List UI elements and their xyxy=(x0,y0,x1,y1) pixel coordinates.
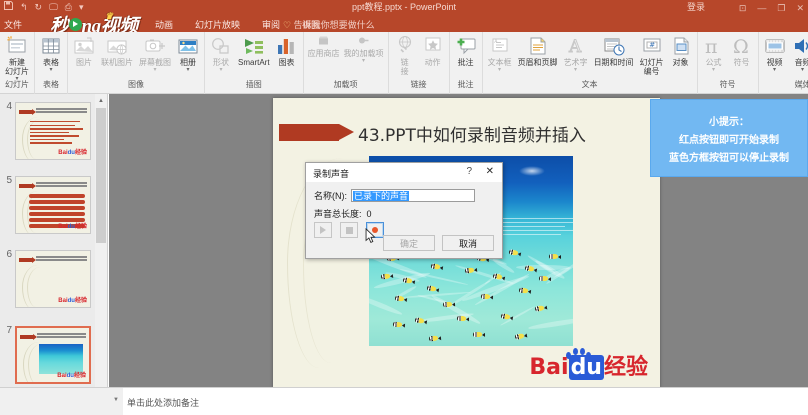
my-addins-label: 我的加载项 xyxy=(344,49,384,58)
thumbnail-item[interactable]: 7 Baidu经验 xyxy=(2,326,91,384)
thumbnail-photo xyxy=(39,344,83,374)
fish xyxy=(519,287,529,293)
mouse-cursor xyxy=(365,228,376,244)
smartart-label: SmartArt xyxy=(238,58,270,67)
crown-icon: ♛ xyxy=(105,11,113,22)
store-icon xyxy=(318,35,329,46)
wordart-icon: A xyxy=(565,35,587,57)
sound-name-value: 已录下的声音 xyxy=(353,191,409,201)
wordart-button: A艺术字▾ xyxy=(561,34,591,74)
decor-swirl-2 xyxy=(27,267,49,307)
shapes-button: 形状▾ xyxy=(207,34,235,74)
ribbon-dialog-launcher[interactable]: ⌐ xyxy=(801,85,805,92)
baidu-watermark: Baidu经验 xyxy=(529,356,648,380)
ribbon-group-items: π公式▾Ω符号 xyxy=(700,32,756,78)
title-arrow-decoration xyxy=(19,184,32,188)
name-label: 名称(N): xyxy=(314,189,347,202)
fish xyxy=(509,249,519,256)
thumbnail-title-lines xyxy=(36,108,87,115)
comment-button[interactable]: 批注 xyxy=(452,34,480,68)
chevron-down-icon[interactable]: ▾ xyxy=(219,67,222,73)
ribbon-group-label: 图像 xyxy=(70,78,202,92)
smartart-icon xyxy=(243,35,265,57)
fish xyxy=(535,305,545,312)
comment-icon xyxy=(455,35,477,57)
ribbon-groups: 新建幻灯片▾幻灯片表格▾表格图片联机图片屏幕截图▾相册▾图像形状▾SmartAr… xyxy=(0,32,808,94)
shapes-icon xyxy=(210,35,232,57)
my-addins-button: 我的加载项▾ xyxy=(342,34,386,65)
ribbon-group-label: 文本 xyxy=(485,78,695,92)
fish xyxy=(393,322,402,328)
wordart-label: 艺术字 xyxy=(564,58,588,67)
ribbon-group-items: 图片联机图片屏幕截图▾相册▾ xyxy=(70,32,202,78)
menu-item-file[interactable]: 文件 xyxy=(4,18,22,31)
text-box-button: A文本框▾ xyxy=(485,34,515,74)
fish xyxy=(381,273,391,279)
ribbon-group-items: A文本框▾页眉和页脚A艺术字▾日期和时间#幻灯片编号对象 xyxy=(485,32,695,78)
ribbon-group-图像: 图片联机图片屏幕截图▾相册▾图像 xyxy=(68,32,205,94)
ribbon-group-表格: 表格▾表格 xyxy=(35,32,68,94)
thumbnail-slide[interactable]: Baidu经验 xyxy=(15,326,91,384)
thumbnail-slide[interactable]: Baidu经验 xyxy=(15,176,91,234)
fish xyxy=(457,316,466,321)
ribbon-group-加载项: 应用商店我的加载项▾加载项 xyxy=(304,32,389,94)
thumbnail-number: 7 xyxy=(2,326,15,336)
ok-button[interactable]: 确定 xyxy=(383,235,435,251)
table-button[interactable]: 表格▾ xyxy=(37,34,65,74)
fish xyxy=(473,332,482,337)
action-label: 动作 xyxy=(425,58,441,67)
chevron-down-icon[interactable]: ▾ xyxy=(153,67,156,73)
audio-button[interactable]: 音频▾ xyxy=(789,34,808,74)
fish xyxy=(549,254,558,259)
screenshot-label: 屏幕截图 xyxy=(139,58,171,67)
chart-icon xyxy=(276,35,298,57)
photo-album-button[interactable]: 相册▾ xyxy=(174,34,202,74)
slide-number-button[interactable]: #幻灯片编号 xyxy=(637,34,667,77)
baidu-du: du xyxy=(569,355,604,380)
comment-label: 批注 xyxy=(458,58,474,67)
ribbon-group-label: 批注 xyxy=(452,78,480,92)
table-icon xyxy=(40,35,62,57)
fish xyxy=(501,313,511,320)
fish xyxy=(415,317,425,324)
title-arrow-decoration xyxy=(19,258,32,262)
object-label: 对象 xyxy=(673,58,689,67)
slide-number-label: 幻灯片 xyxy=(640,58,664,67)
slide-thumbnail-panel[interactable]: 4 Baidu经验5 Baidu经验6 Baidu经验7 Baidu经验 ▲ ▼ xyxy=(0,94,108,415)
paw-dot xyxy=(580,348,585,355)
sound-name-input[interactable]: 已录下的声音 xyxy=(351,189,475,202)
fish xyxy=(539,276,548,281)
date-time-label: 日期和时间 xyxy=(594,58,634,67)
text-box-icon: A xyxy=(489,35,511,57)
length-row: 声音总长度: 0 xyxy=(314,207,372,220)
fish xyxy=(429,336,438,342)
ribbon-group-label: 插图 xyxy=(207,78,301,92)
fish xyxy=(403,277,413,283)
baidu-bai: Bai xyxy=(529,355,568,380)
paw-dot xyxy=(573,348,578,355)
thumbnail-slide[interactable]: Baidu经验 xyxy=(15,250,91,308)
thumbnail-item[interactable]: 5 Baidu经验 xyxy=(2,176,91,234)
hyperlink-button: 链接 xyxy=(391,34,419,77)
equation-button: π公式▾ xyxy=(700,34,728,74)
dialog-title: 录制声音 xyxy=(313,167,349,180)
notes-pane[interactable]: ▼ 单击此处添加备注 xyxy=(109,387,808,415)
photo-album-icon xyxy=(177,35,199,57)
powerpoint-window: ↰ ↻ 🖵 ⎙ ▾ ppt教程.pptx - PowerPoint 登录 ⊡ —… xyxy=(0,0,808,415)
tab-animations[interactable]: 动画 xyxy=(155,18,173,31)
video-icon xyxy=(764,35,786,57)
dialog-close-icon[interactable]: ✕ xyxy=(486,166,494,177)
length-label: 声音总长度: xyxy=(314,207,362,220)
title-arrow-decoration xyxy=(279,124,339,141)
thumbnail-number: 6 xyxy=(2,250,15,260)
date-time-icon xyxy=(603,35,625,57)
chevron-down-icon[interactable]: ▾ xyxy=(574,67,577,73)
symbol-icon: Ω xyxy=(731,35,753,57)
slide-title[interactable]: 43.PPT中如何录制音频并插入 xyxy=(358,121,586,146)
ribbon-group-items: 批注 xyxy=(452,32,480,78)
sign-in-link[interactable]: 登录 xyxy=(687,1,705,14)
chevron-down-icon[interactable]: ▾ xyxy=(186,67,189,73)
equation-label: 公式 xyxy=(706,58,722,67)
tip-callout-box: 小提示： 红点按钮即可开始录制 蓝色方框按钮可以停止录制 xyxy=(650,99,808,177)
thumbnail-title-lines xyxy=(36,256,87,263)
play-badge-icon xyxy=(69,18,82,31)
ribbon-group-items: 新建幻灯片▾ xyxy=(2,32,32,78)
online-picture-icon xyxy=(106,35,128,57)
shapes-label: 形状 xyxy=(213,58,229,67)
screenshot-icon xyxy=(144,35,166,57)
svg-text:A: A xyxy=(568,37,582,57)
chevron-down-icon[interactable]: ▾ xyxy=(712,67,715,73)
new-slide-icon xyxy=(6,35,28,57)
hyperlink-label-2: 接 xyxy=(401,67,409,76)
title-arrow-decoration xyxy=(19,110,32,114)
thumbnail-baidu-watermark: Baidu经验 xyxy=(58,150,87,157)
addins-icon xyxy=(358,35,369,46)
ribbon-group-链接: 链接动作链接 xyxy=(389,32,450,94)
tip-heading: 小提示： xyxy=(709,113,749,128)
thumbnail-baidu-watermark: Baidu经验 xyxy=(58,298,87,305)
action-icon xyxy=(422,35,444,57)
minimize-icon[interactable]: — xyxy=(757,0,766,16)
play-icon xyxy=(320,226,326,234)
dialog-title-bar[interactable]: 录制声音 ? ✕ xyxy=(306,163,502,183)
tell-me-label: 告诉我你想要做什么 xyxy=(294,20,375,30)
date-time-button[interactable]: 日期和时间 xyxy=(591,34,637,68)
tip-line-2: 蓝色方框按钮可以停止录制 xyxy=(669,149,789,164)
chevron-down-icon[interactable]: ▾ xyxy=(801,67,804,73)
chevron-down-icon[interactable]: ▾ xyxy=(362,58,365,64)
ribbon-display-options-icon[interactable]: ⊡ xyxy=(739,0,747,16)
header-footer-label: 页眉和页脚 xyxy=(518,58,558,67)
picture-icon xyxy=(73,35,95,57)
new-slide-label-2: 幻灯片 xyxy=(5,67,29,76)
title-arrow-decoration xyxy=(20,335,33,339)
store-label: 应用商店 xyxy=(308,49,340,58)
ribbon-group-label: 加载项 xyxy=(306,78,386,92)
action-button: 动作 xyxy=(419,34,447,68)
thumbnail-title-lines xyxy=(37,333,86,340)
thumbnail-baidu-watermark: Baidu经验 xyxy=(57,373,86,380)
bottom-left-filler xyxy=(0,387,109,415)
picture-label: 图片 xyxy=(76,58,92,67)
picture-button: 图片 xyxy=(70,34,98,68)
ribbon-group-items: 表格▾ xyxy=(37,32,65,78)
sun-glow xyxy=(519,166,545,176)
window-controls: ⊡ — ❐ ✕ xyxy=(739,0,804,16)
video-button[interactable]: 视频▾ xyxy=(761,34,789,74)
tell-me-search[interactable]: ♡ 告诉我你想要做什么 xyxy=(283,18,375,31)
scrollbar-thumb[interactable] xyxy=(96,108,106,243)
smartart-button[interactable]: SmartArt xyxy=(235,34,273,68)
ribbon-group-label: 幻灯片 xyxy=(2,78,32,92)
new-slide-label: 新建 xyxy=(9,58,25,67)
svg-text:π: π xyxy=(705,36,718,57)
thumbnail-item[interactable]: 6 Baidu经验 xyxy=(2,250,91,308)
record-sound-dialog[interactable]: 录制声音 ? ✕ 名称(N): 已录下的声音 声音总长度: 0 确定 取消 xyxy=(305,162,503,259)
tip-line-1: 红点按钮即可开始录制 xyxy=(679,131,779,146)
chevron-down-icon[interactable]: ▾ xyxy=(773,67,776,73)
ribbon-group-label: 符号 xyxy=(700,78,756,92)
fish xyxy=(395,295,405,301)
sand-ripple xyxy=(528,316,573,330)
play-button[interactable] xyxy=(314,222,332,238)
cancel-button[interactable]: 取消 xyxy=(442,235,494,251)
sand-ripple xyxy=(492,258,516,275)
ribbon-group-items: 形状▾SmartArt图表 xyxy=(207,32,301,78)
restore-icon[interactable]: ❐ xyxy=(777,0,785,16)
header-footer-button[interactable]: 页眉和页脚 xyxy=(515,34,561,68)
thumbnail-baidu-watermark: Baidu经验 xyxy=(58,224,87,231)
stop-button[interactable] xyxy=(340,222,358,238)
length-value: 0 xyxy=(367,209,372,219)
help-icon[interactable]: ? xyxy=(466,166,472,177)
lightbulb-icon: ♡ xyxy=(283,20,291,30)
hyperlink-icon xyxy=(394,35,416,57)
fish xyxy=(481,294,490,300)
ribbon-group-插图: 形状▾SmartArt图表插图 xyxy=(205,32,304,94)
thumbnail-number: 5 xyxy=(2,176,15,186)
thumbnail-number: 4 xyxy=(2,102,15,112)
online-picture-button: 联机图片 xyxy=(98,34,136,68)
ribbon-group-符号: π公式▾Ω符号符号 xyxy=(698,32,759,94)
photo-album-label: 相册 xyxy=(180,58,196,67)
tab-slideshow[interactable]: 幻灯片放映 xyxy=(195,18,240,31)
chevron-down-icon[interactable]: ▼ xyxy=(113,397,119,403)
ribbon-group-文本: A文本框▾页眉和页脚A艺术字▾日期和时间#幻灯片编号对象文本 xyxy=(483,32,698,94)
fish xyxy=(515,333,525,340)
notes-placeholder[interactable]: 单击此处添加备注 xyxy=(127,396,199,409)
equation-icon: π xyxy=(703,35,725,57)
ribbon-group-label: 表格 xyxy=(37,78,65,92)
ribbon-group-幻灯片: 新建幻灯片▾幻灯片 xyxy=(0,32,35,94)
online-picture-label: 联机图片 xyxy=(101,58,133,67)
baidu-jingyan: 经验 xyxy=(604,355,648,380)
video-label: 视频 xyxy=(767,58,783,67)
audio-label: 音频 xyxy=(795,58,808,67)
hyperlink-label: 链 xyxy=(401,58,409,67)
tab-review[interactable]: 审阅 xyxy=(262,18,280,31)
chevron-down-icon[interactable]: ▾ xyxy=(49,67,52,73)
symbol-label: 符号 xyxy=(734,58,750,67)
svg-text:Ω: Ω xyxy=(733,36,749,57)
ribbon-group-批注: 批注批注 xyxy=(450,32,483,94)
notes-splitter[interactable]: ▼ xyxy=(109,388,123,415)
stop-icon xyxy=(346,227,353,234)
text-box-label: 文本框 xyxy=(488,58,512,67)
thumbnail-title-lines xyxy=(36,182,87,189)
symbol-button: Ω符号 xyxy=(728,34,756,68)
new-slide-button[interactable]: 新建幻灯片▾ xyxy=(2,34,32,83)
menu-bar: 文件 秒ng视频 ♛ 动画 幻灯片放映 审阅 视图 ♡ 告诉我你想要做什么 👤 … xyxy=(0,16,808,32)
ribbon-group-items: 视频▾音频▾屏幕录制 xyxy=(761,32,808,78)
chart-button[interactable]: 图表 xyxy=(273,34,301,68)
slide-number-label-2: 编号 xyxy=(644,67,660,76)
thumbnail-item[interactable]: 4 Baidu经验 xyxy=(2,102,91,160)
svg-text:#: # xyxy=(649,41,655,49)
thumbnail-bullet-lines xyxy=(30,121,86,146)
slide-number-icon: # xyxy=(641,35,663,57)
name-row: 名称(N): 已录下的声音 xyxy=(314,189,475,202)
store-button: 应用商店 xyxy=(306,34,342,59)
ribbon: 新建幻灯片▾幻灯片表格▾表格图片联机图片屏幕截图▾相册▾图像形状▾SmartAr… xyxy=(0,32,808,94)
chevron-down-icon[interactable]: ▾ xyxy=(498,67,501,73)
fish xyxy=(431,263,441,269)
ribbon-group-items: 应用商店我的加载项▾ xyxy=(306,32,386,78)
table-label: 表格 xyxy=(43,58,59,67)
fish xyxy=(427,285,437,292)
ribbon-group-items: 链接动作 xyxy=(391,32,447,78)
ribbon-group-label: 链接 xyxy=(391,78,447,92)
header-footer-icon xyxy=(527,35,549,57)
dialog-action-buttons: 确定 取消 xyxy=(383,235,494,251)
object-icon xyxy=(670,35,692,57)
close-icon[interactable]: ✕ xyxy=(796,0,804,16)
chart-label: 图表 xyxy=(279,58,295,67)
thumbnail-scrollbar[interactable]: ▲ ▼ xyxy=(95,94,107,415)
fish xyxy=(525,265,535,272)
thumbnail-slide[interactable]: Baidu经验 xyxy=(15,102,91,160)
screenshot-button: 屏幕截图▾ xyxy=(136,34,174,74)
scroll-up-arrow-icon[interactable]: ▲ xyxy=(96,95,106,107)
audio-icon xyxy=(792,35,808,57)
object-button[interactable]: 对象 xyxy=(667,34,695,68)
